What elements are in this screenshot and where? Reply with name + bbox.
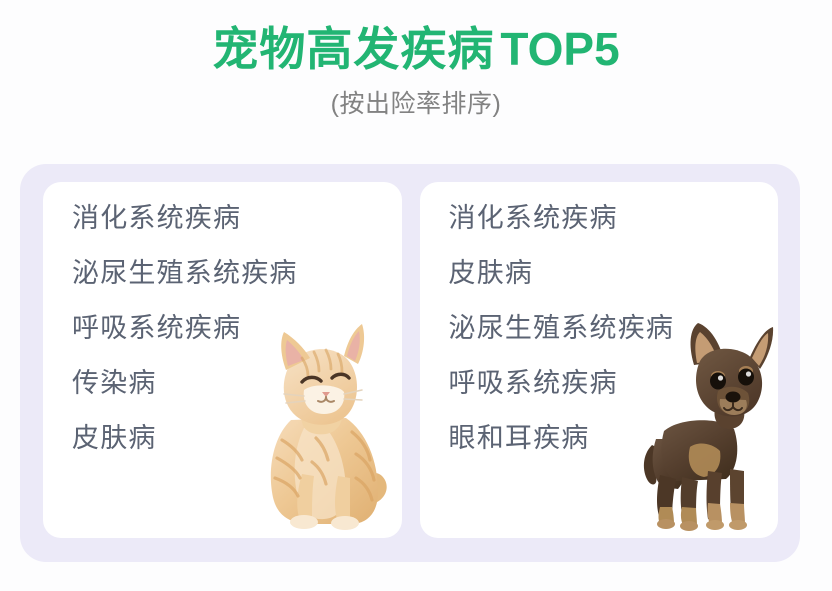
cards-container: 消化系统疾病 泌尿生殖系统疾病 呼吸系统疾病 传染病 皮肤病 xyxy=(43,182,778,538)
pet-disease-infographic: 宠物高发疾病TOP5 (按出险率排序) 消化系统疾病 泌尿生殖系统疾病 呼吸系统… xyxy=(0,0,832,591)
page-title: 宠物高发疾病TOP5 xyxy=(0,0,832,76)
list-item: 呼吸系统疾病 xyxy=(72,314,298,343)
page-title-main: 宠物高发疾病 xyxy=(212,23,494,75)
cat-disease-card: 消化系统疾病 泌尿生殖系统疾病 呼吸系统疾病 传染病 皮肤病 xyxy=(43,182,402,538)
list-item: 皮肤病 xyxy=(72,424,298,453)
dog-disease-card: 消化系统疾病 皮肤病 泌尿生殖系统疾病 呼吸系统疾病 眼和耳疾病 xyxy=(420,182,779,538)
list-item: 眼和耳疾病 xyxy=(449,424,675,453)
page-title-rank: TOP5 xyxy=(494,23,619,75)
list-item: 传染病 xyxy=(72,369,298,398)
dog-disease-list: 消化系统疾病 皮肤病 泌尿生殖系统疾病 呼吸系统疾病 眼和耳疾病 xyxy=(449,204,675,453)
list-item: 泌尿生殖系统疾病 xyxy=(449,314,675,343)
list-item: 消化系统疾病 xyxy=(72,204,298,233)
list-item: 皮肤病 xyxy=(449,259,675,288)
list-item: 呼吸系统疾病 xyxy=(449,369,675,398)
cat-disease-list: 消化系统疾病 泌尿生殖系统疾病 呼吸系统疾病 传染病 皮肤病 xyxy=(72,204,298,453)
header: 宠物高发疾病TOP5 (按出险率排序) xyxy=(0,0,832,119)
page-subtitle: (按出险率排序) xyxy=(0,76,832,119)
list-item: 泌尿生殖系统疾病 xyxy=(72,259,298,288)
list-item: 消化系统疾病 xyxy=(449,204,675,233)
